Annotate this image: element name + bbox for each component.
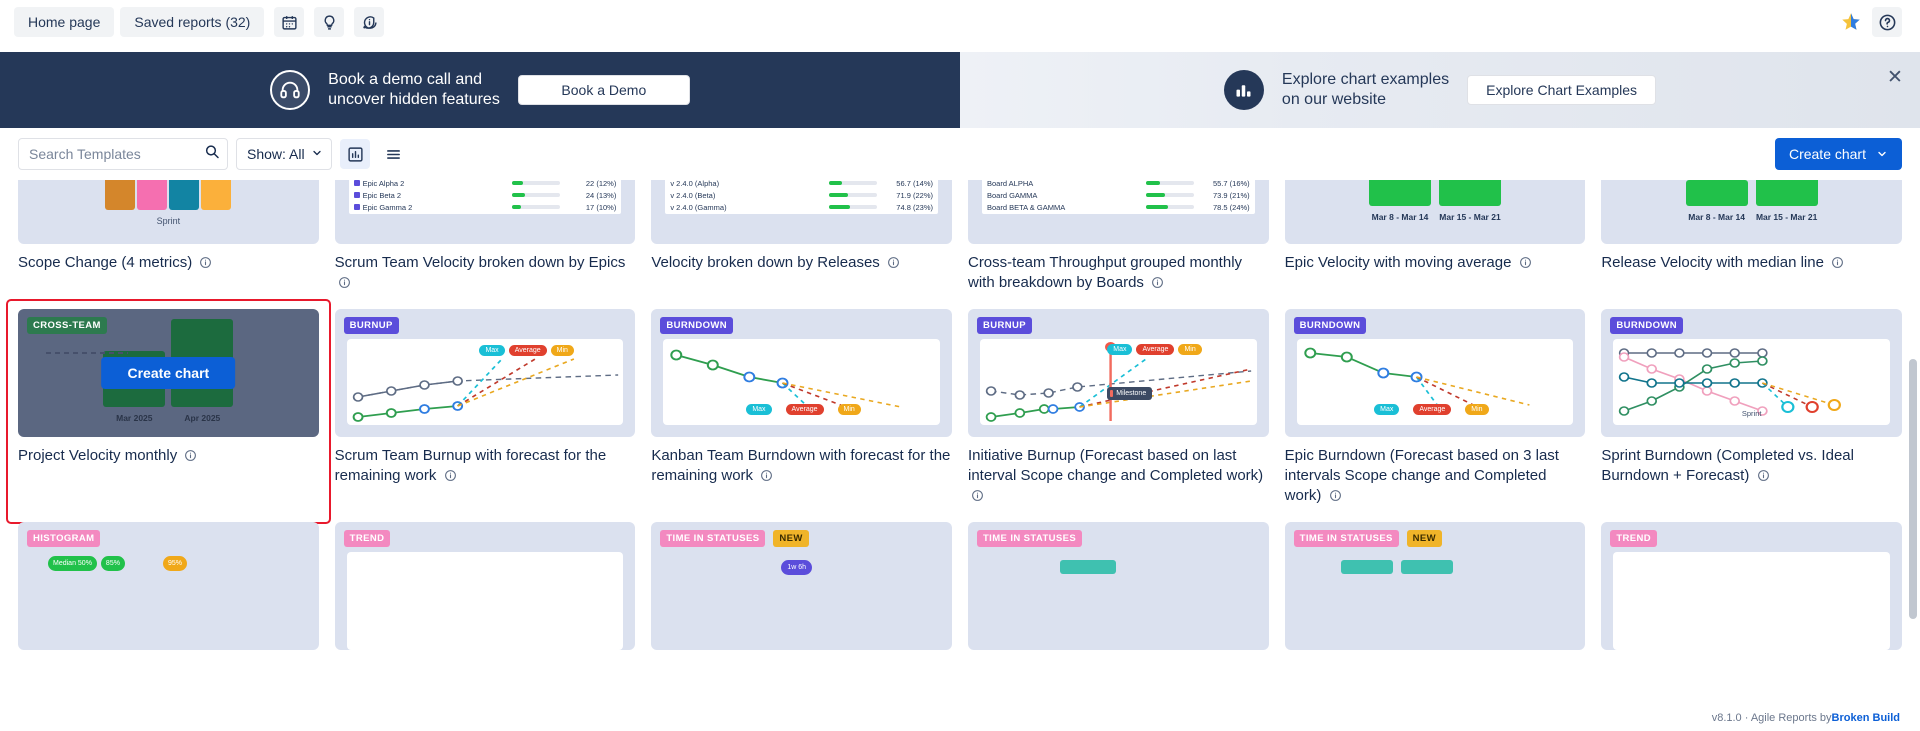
info-bubble-icon xyxy=(361,14,378,31)
forecast-chip: Max xyxy=(1374,404,1399,415)
template-card-selected[interactable]: CROSS-TEAM Mar 2025 Apr 2025 Create char… xyxy=(8,301,329,522)
chevron-down-icon xyxy=(1876,148,1888,160)
calendar-icon-button[interactable] xyxy=(274,7,304,37)
template-badge: TIME IN STATUSES xyxy=(1294,530,1399,547)
create-chart-button[interactable]: Create chart xyxy=(1775,138,1902,170)
template-badge: TIME IN STATUSES xyxy=(977,530,1082,547)
mini-table-row: v 2.4.0 (Alpha) 56.7 (14%) xyxy=(665,180,938,189)
template-card-title: Scope Change (4 metrics) xyxy=(18,253,319,275)
mini-chart-surface xyxy=(347,552,624,650)
template-badge-new: NEW xyxy=(773,530,808,547)
nav-saved-reports-label: Saved reports (32) xyxy=(134,14,250,30)
status-chip: 1w 6h xyxy=(781,560,812,575)
mini-bar xyxy=(1369,180,1431,206)
template-thumbnail: BURNDOWN xyxy=(1601,309,1902,437)
template-thumbnail: Mar 8 - Mar 21 Mar 22 - Apr 4 Breakdown:… xyxy=(651,180,952,244)
promo-right-line1: Explore chart examples xyxy=(1282,70,1449,90)
explore-chart-examples-label: Explore Chart Examples xyxy=(1486,82,1637,98)
book-a-demo-label: Book a Demo xyxy=(561,82,646,98)
search-templates-wrap xyxy=(18,138,228,170)
bar-chart-icon-wrap xyxy=(1224,70,1264,110)
templates-toolbar: Show: All Create chart xyxy=(0,128,1920,180)
footer-version: v8.1.0 · Agile Reports by xyxy=(1712,712,1832,724)
template-title-text: Sprint Burndown (Completed vs. Ideal Bur… xyxy=(1601,447,1854,484)
info-icon[interactable] xyxy=(760,468,773,488)
vertical-scrollbar[interactable] xyxy=(1909,184,1917,679)
lightbulb-icon-button[interactable] xyxy=(314,7,344,37)
calendar-icon xyxy=(281,14,298,31)
promo-banner: Book a demo call and uncover hidden feat… xyxy=(0,52,1920,128)
template-card-title: Initiative Burnup (Forecast based on las… xyxy=(968,446,1269,508)
template-thumbnail: TREND xyxy=(1601,522,1902,650)
mini-chart-surface xyxy=(1613,552,1890,650)
list-view-button[interactable] xyxy=(378,139,408,169)
template-card[interactable]: BURNDOWN Max Average xyxy=(1285,309,1586,522)
template-thumbnail: BURNUP xyxy=(335,309,636,437)
scrollbar-thumb[interactable] xyxy=(1909,359,1917,619)
status-bar xyxy=(1341,560,1393,574)
info-icon[interactable] xyxy=(1329,488,1342,508)
template-thumbnail[interactable]: CROSS-TEAM Mar 2025 Apr 2025 Create char… xyxy=(18,309,319,437)
template-card[interactable]: HISTOGRAM Median 50% 85% 95% xyxy=(18,522,319,664)
mini-axis-label: Sprint xyxy=(1613,409,1890,418)
top-navigation-bar: Home page Saved reports (32) xyxy=(0,0,1920,44)
info-icon[interactable] xyxy=(184,448,197,468)
show-filter-label: Show: All xyxy=(247,146,305,162)
mini-table: Mar 8 - Mar 21 Mar 22 - Apr 4 Breakdown:… xyxy=(665,180,938,238)
create-chart-label: Create chart xyxy=(1789,146,1866,162)
template-card-title: Scrum Team Velocity broken down by Epics xyxy=(335,253,636,295)
mini-chart-surface: Sprint xyxy=(1613,339,1890,425)
forecast-chip: Average xyxy=(1136,344,1174,355)
template-card[interactable]: Mar 8 - Mar 14 Mar 15 - Mar 21 Epic Velo… xyxy=(1285,180,1586,309)
nav-home-page[interactable]: Home page xyxy=(14,7,114,37)
forecast-chip: Max xyxy=(479,345,504,356)
template-card-title: Sprint Burndown (Completed vs. Ideal Bur… xyxy=(1601,446,1902,488)
template-badge: HISTOGRAM xyxy=(27,530,100,547)
templates-scroll-area[interactable]: Sprint Scope Change (4 metrics) Mar 8 - … xyxy=(0,180,1920,697)
templates-grid: Sprint Scope Change (4 metrics) Mar 8 - … xyxy=(18,180,1902,664)
milestone-tooltip: Milestone xyxy=(1107,387,1152,400)
mini-table-row: Epic Gamma 2 17 (10%) xyxy=(349,201,622,213)
mini-chart-surface: Max Average Min xyxy=(347,339,624,425)
template-thumbnail: TIME IN STATUSES xyxy=(968,522,1269,650)
mini-table-row: Board GAMMA 73.9 (21%) xyxy=(982,189,1255,201)
forecast-chip: Min xyxy=(838,404,861,415)
mini-chart-surface: Max Average Min xyxy=(663,339,940,425)
template-badge: BURNDOWN xyxy=(660,317,733,334)
mini-axis-label: Sprint xyxy=(18,216,319,226)
template-card[interactable]: BURNDOWN Max Average xyxy=(651,309,952,522)
headset-icon-wrap xyxy=(270,70,310,110)
template-title-text: Initiative Burnup (Forecast based on las… xyxy=(968,447,1263,484)
bar-chart-icon xyxy=(1233,80,1254,101)
forecast-chip: Average xyxy=(1413,404,1451,415)
template-title-text: Epic Burndown (Forecast based on 3 last … xyxy=(1285,447,1559,504)
mini-bar xyxy=(201,180,231,210)
template-card[interactable]: Mar 8 - Mar 21 Mar 22 - Apr 4 Breakdown:… xyxy=(651,180,952,309)
template-thumbnail: Mar 2025 Apr 2025 Breakdown: Mar 2025 Bo… xyxy=(968,180,1269,244)
mini-histogram: Median 50% 85% 95% xyxy=(48,556,187,571)
mini-bar xyxy=(137,180,167,210)
info-icon[interactable] xyxy=(338,275,351,295)
mini-bar xyxy=(1439,180,1501,206)
star-icon-button[interactable] xyxy=(1836,7,1866,37)
template-badge: BURNUP xyxy=(977,317,1032,334)
template-title-text: Kanban Team Burndown with forecast for t… xyxy=(651,447,950,484)
mini-table: Mar 8 - Mar 21 Mar 22 - Apr 4 Breakdown:… xyxy=(349,180,622,238)
help-icon-button[interactable] xyxy=(1872,7,1902,37)
template-card-title: Epic Velocity with moving average xyxy=(1285,253,1586,275)
template-thumbnail: 12 Mar 8 - Mar 14 Mar 15 - Mar 21 xyxy=(1601,180,1902,244)
template-thumbnail: BURNDOWN Max Average xyxy=(651,309,952,437)
grid-chart-view-icon xyxy=(347,146,364,163)
template-badge: CROSS-TEAM xyxy=(27,317,107,334)
template-badge-new: NEW xyxy=(1407,530,1442,547)
forecast-chip: Average xyxy=(509,345,547,356)
chevron-down-icon xyxy=(311,146,323,162)
info-icon[interactable] xyxy=(1757,468,1770,488)
template-card-title: Velocity broken down by Releases xyxy=(651,253,952,275)
forecast-chips: Max Average Min xyxy=(1374,404,1488,415)
template-card-title: Release Velocity with median line xyxy=(1601,253,1902,275)
histogram-marker: 95% xyxy=(163,556,187,571)
info-icon[interactable] xyxy=(971,488,984,508)
template-title-text: Scope Change (4 metrics) xyxy=(18,254,192,271)
template-card[interactable]: BURNUP xyxy=(968,309,1269,522)
template-card[interactable]: TREND xyxy=(1601,522,1902,664)
grid-chart-view-button[interactable] xyxy=(340,139,370,169)
template-card[interactable]: TIME IN STATUSES NEW 1w 6h xyxy=(651,522,952,664)
forecast-chip: Max xyxy=(1107,344,1132,355)
template-card-title: Epic Burndown (Forecast based on 3 last … xyxy=(1285,446,1586,508)
mini-bar-chart xyxy=(1285,180,1586,206)
template-card[interactable]: 12 Mar 8 - Mar 14 Mar 15 - Mar 21 Releas… xyxy=(1601,180,1902,309)
forecast-chips: Max Average Min xyxy=(1107,344,1201,355)
template-card[interactable]: Mar 2025 Apr 2025 Breakdown: Mar 2025 Bo… xyxy=(968,180,1269,309)
template-badge: TREND xyxy=(1610,530,1657,547)
forecast-chips: Max Average Min xyxy=(479,345,573,356)
status-bar xyxy=(1060,560,1116,574)
book-a-demo-button[interactable]: Book a Demo xyxy=(518,75,690,105)
template-thumbnail: Mar 8 - Mar 21 Mar 22 - Apr 4 Breakdown:… xyxy=(335,180,636,244)
mini-axis-labels: Mar 8 - Mar 14 Mar 15 - Mar 21 xyxy=(1601,212,1902,222)
mini-table-rows: Board ALPHA 55.7 (16%) Board GAMMA 73.9 … xyxy=(982,180,1255,214)
footer-vendor-link[interactable]: Broken Build xyxy=(1832,712,1900,724)
template-title-text: Release Velocity with median line xyxy=(1601,254,1824,271)
template-card-title: Cross-team Throughput grouped monthly wi… xyxy=(968,253,1269,295)
info-icon[interactable] xyxy=(1831,255,1844,275)
template-card[interactable]: Mar 8 - Mar 21 Mar 22 - Apr 4 Breakdown:… xyxy=(335,180,636,309)
search-input[interactable] xyxy=(18,138,228,170)
info-icon[interactable] xyxy=(887,255,900,275)
mini-bar-chart xyxy=(18,180,319,210)
mini-table-rows: v 2.4.0 (Alpha) 56.7 (14%) v 2.4.0 (Beta… xyxy=(665,180,938,214)
template-card[interactable]: TIME IN STATUSES xyxy=(968,522,1269,664)
template-thumbnail: HISTOGRAM Median 50% 85% 95% xyxy=(18,522,319,650)
template-badge: BURNUP xyxy=(344,317,399,334)
template-badge: TREND xyxy=(344,530,391,547)
info-icon[interactable] xyxy=(1151,275,1164,295)
template-badge: TIME IN STATUSES xyxy=(660,530,765,547)
forecast-chip: Min xyxy=(551,345,574,356)
template-thumbnail: Mar 8 - Mar 14 Mar 15 - Mar 21 xyxy=(1285,180,1586,244)
template-thumbnail: Sprint xyxy=(18,180,319,244)
forecast-chip: Min xyxy=(1465,404,1488,415)
info-icon[interactable] xyxy=(444,468,457,488)
list-view-icon xyxy=(385,146,402,163)
template-card[interactable]: BURNDOWN xyxy=(1601,309,1902,522)
headset-icon xyxy=(279,79,301,101)
mini-table-row: Board ALPHA 55.7 (16%) xyxy=(982,180,1255,189)
template-badge: BURNDOWN xyxy=(1610,317,1683,334)
template-title-text: Epic Velocity with moving average xyxy=(1285,254,1512,271)
promo-banner-left: Book a demo call and uncover hidden feat… xyxy=(0,52,960,128)
mini-table-row: Epic Alpha 2 22 (12%) xyxy=(349,180,622,189)
template-card-title: Scrum Team Burnup with forecast for the … xyxy=(335,446,636,488)
show-filter-select[interactable]: Show: All xyxy=(236,138,332,170)
template-card[interactable]: Sprint Scope Change (4 metrics) xyxy=(18,180,319,309)
template-thumbnail: TIME IN STATUSES NEW xyxy=(1285,522,1586,650)
help-circle-icon xyxy=(1878,13,1897,32)
forecast-chips: Max Average Min xyxy=(746,404,860,415)
lightbulb-icon xyxy=(321,14,338,31)
mini-axis-labels: Mar 8 - Mar 14 Mar 15 - Mar 21 xyxy=(1285,212,1586,222)
mini-bar xyxy=(169,180,199,210)
template-thumbnail: BURNDOWN Max Average xyxy=(1285,309,1586,437)
template-title-text: Cross-team Throughput grouped monthly wi… xyxy=(968,254,1242,291)
mini-table-row: Epic Beta 2 24 (13%) xyxy=(349,189,622,201)
promo-left-line2: uncover hidden features xyxy=(328,90,500,110)
mini-chart-surface: Max Average Min Milestone xyxy=(980,339,1257,425)
forecast-chip: Max xyxy=(746,404,771,415)
mini-table: Mar 2025 Apr 2025 Breakdown: Mar 2025 Bo… xyxy=(982,180,1255,238)
template-title-text: Scrum Team Velocity broken down by Epics xyxy=(335,254,626,271)
template-card[interactable]: TIME IN STATUSES NEW xyxy=(1285,522,1586,664)
close-icon[interactable]: ✕ xyxy=(1884,66,1906,88)
footer: v8.1.0 · Agile Reports by Broken Build xyxy=(0,705,1920,731)
mini-bar xyxy=(105,180,135,210)
histogram-marker: 85% xyxy=(101,556,125,571)
promo-left-line1: Book a demo call and xyxy=(328,70,500,90)
template-thumbnail: TIME IN STATUSES NEW 1w 6h xyxy=(651,522,952,650)
template-card[interactable]: TREND xyxy=(335,522,636,664)
promo-banner-left-text: Book a demo call and uncover hidden feat… xyxy=(328,70,500,110)
template-title-text: Scrum Team Burnup with forecast for the … xyxy=(335,447,607,484)
promo-banner-right: Explore chart examples on our website Ex… xyxy=(960,52,1920,128)
template-title-text: Velocity broken down by Releases xyxy=(651,254,879,271)
histogram-marker: Median 50% xyxy=(48,556,97,571)
nav-home-page-label: Home page xyxy=(28,14,100,30)
info-bubble-icon-button[interactable] xyxy=(354,7,384,37)
mini-axis-labels: Mar 2025 Apr 2025 xyxy=(18,413,319,423)
mini-table-rows: Epic Alpha 2 22 (12%) Epic Beta 2 24 (13… xyxy=(349,180,622,214)
nav-saved-reports[interactable]: Saved reports (32) xyxy=(120,7,264,37)
template-card[interactable]: BURNUP xyxy=(335,309,636,522)
promo-banner-right-text: Explore chart examples on our website xyxy=(1282,70,1449,110)
nav-right-actions xyxy=(1836,7,1906,37)
mini-table-row: v 2.4.0 (Beta) 71.9 (22%) xyxy=(665,189,938,201)
template-card-title: Kanban Team Burndown with forecast for t… xyxy=(651,446,952,488)
thumbnail-create-chart-button[interactable]: Create chart xyxy=(101,357,235,389)
template-badge: BURNDOWN xyxy=(1294,317,1367,334)
template-card-title: Project Velocity monthly xyxy=(18,446,319,468)
explore-chart-examples-button[interactable]: Explore Chart Examples xyxy=(1467,75,1656,105)
promo-right-line2: on our website xyxy=(1282,90,1449,110)
info-icon[interactable] xyxy=(199,255,212,275)
template-thumbnail: BURNUP xyxy=(968,309,1269,437)
mini-table-row: v 2.4.0 (Gamma) 74.8 (23%) xyxy=(665,201,938,213)
status-bar xyxy=(1401,560,1453,574)
template-title-text: Project Velocity monthly xyxy=(18,447,177,464)
template-thumbnail: TREND xyxy=(335,522,636,650)
star-icon xyxy=(1840,11,1862,33)
mini-chart-surface: Max Average Min xyxy=(1297,339,1574,425)
forecast-chip: Min xyxy=(1178,344,1201,355)
mini-table-row: Board BETA & GAMMA 78.5 (24%) xyxy=(982,201,1255,213)
forecast-chip: Average xyxy=(786,404,824,415)
info-icon[interactable] xyxy=(1519,255,1532,275)
